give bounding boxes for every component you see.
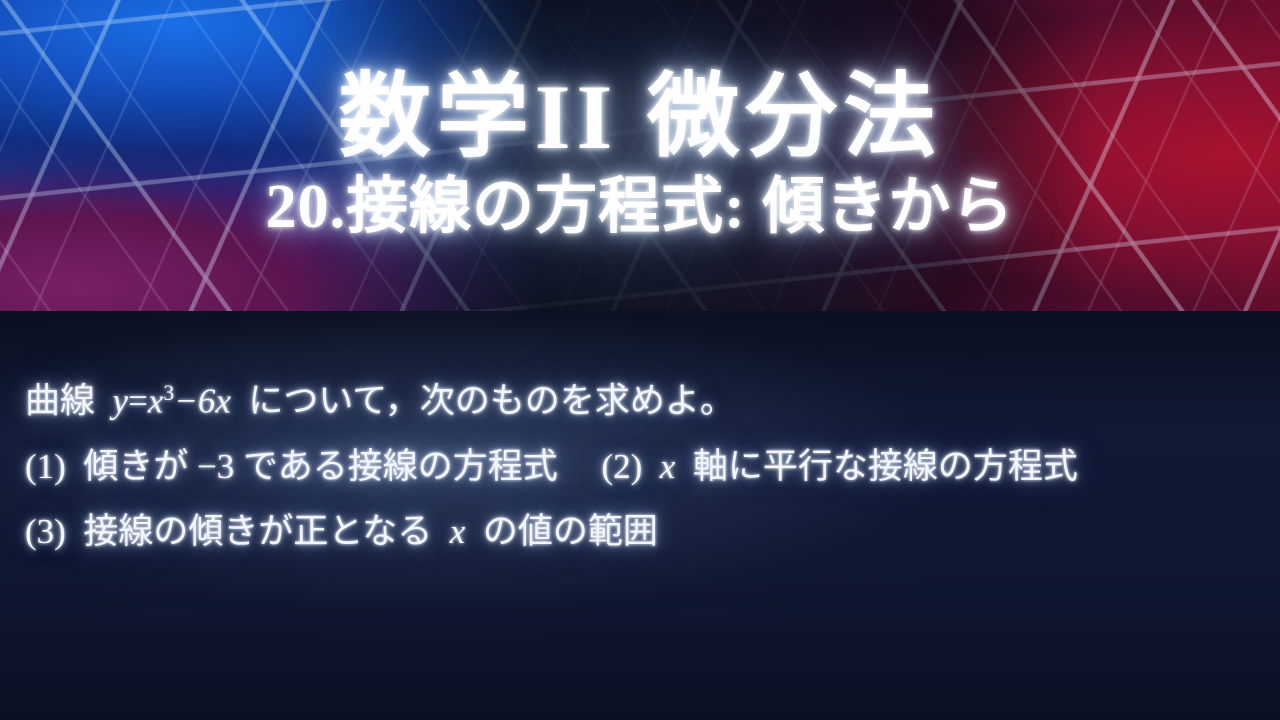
equation-tail: −6x (174, 382, 231, 421)
problem-item-line-2: (3)接線の傾きが正となるxの値の範囲 (25, 514, 1265, 549)
item-3-number: (3) (25, 512, 66, 551)
problem-suffix: について，次のものを求めよ。 (248, 382, 735, 421)
problem-lines: 曲線y=x3−6xについて，次のものを求めよ。 (1)傾きが −3 である接線の… (25, 383, 1265, 549)
item-1-text: 傾きが −3 である接線の方程式 (83, 447, 557, 486)
equation-lhs: y (113, 382, 129, 421)
problem-statement-line: 曲線y=x3−6xについて，次のものを求めよ。 (25, 383, 1265, 419)
slide-root: 数学II 微分法 20.接線の方程式: 傾きから 曲線y=x3−6xについて，次… (0, 0, 1280, 720)
item-3-text-b: の値の範囲 (483, 512, 658, 551)
banner-text-block: 数学II 微分法 20.接線の方程式: 傾きから (0, 0, 1280, 311)
item-2-variable: x (660, 447, 676, 486)
item-2-text: 軸に平行な接線の方程式 (693, 447, 1078, 486)
problem-area: 曲線y=x3−6xについて，次のものを求めよ。 (1)傾きが −3 である接線の… (0, 311, 1280, 720)
equation-base: x (148, 382, 164, 421)
item-3-variable: x (450, 512, 466, 551)
page-subtitle: 20.接線の方程式: 傾きから (266, 175, 1015, 241)
item-2-number: (2) (601, 447, 642, 486)
equation-exponent: 3 (163, 381, 174, 405)
equation-relation: = (128, 382, 148, 421)
page-title: 数学II 微分法 (339, 70, 942, 166)
problem-prefix: 曲線 (25, 382, 95, 421)
problem-item-line-1: (1)傾きが −3 である接線の方程式(2)x軸に平行な接線の方程式 (25, 449, 1265, 484)
item-3-text-a: 接線の傾きが正となる (83, 512, 432, 551)
item-1-number: (1) (25, 447, 66, 486)
title-banner: 数学II 微分法 20.接線の方程式: 傾きから (0, 0, 1280, 311)
